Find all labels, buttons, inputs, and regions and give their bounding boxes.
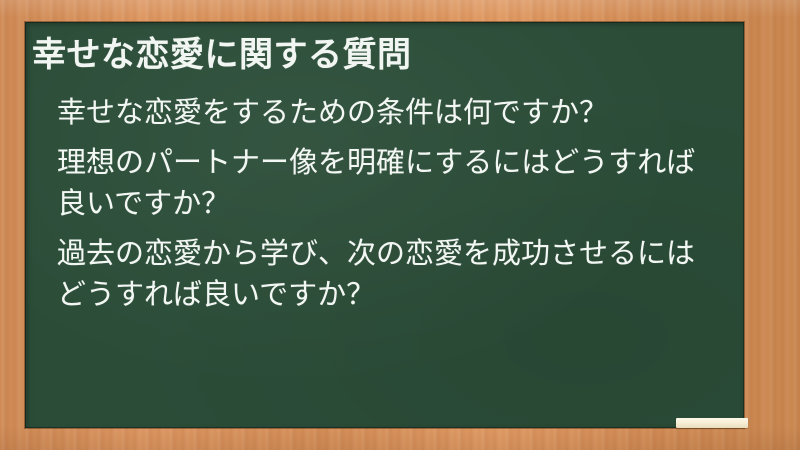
chalk-stick-icon bbox=[676, 418, 748, 428]
page-title: 幸せな恋愛に関する質問 bbox=[32, 32, 730, 78]
list-item: 理想のパートナー像を明確にするにはどうすれば良いですか？ bbox=[57, 142, 712, 224]
question-list: 幸せな恋愛をするための条件は何ですか？ 理想のパートナー像を明確にするにはどうす… bbox=[32, 92, 730, 315]
chalkboard: 幸せな恋愛に関する質問 幸せな恋愛をするための条件は何ですか？ 理想のパートナー… bbox=[25, 22, 744, 428]
list-item: 幸せな恋愛をするための条件は何ですか？ bbox=[57, 92, 712, 133]
list-item: 過去の恋愛から学び、次の恋愛を成功させるにはどうすれば良いですか？ bbox=[57, 233, 712, 315]
slide-screen: 幸せな恋愛に関する質問 幸せな恋愛をするための条件は何ですか？ 理想のパートナー… bbox=[0, 0, 800, 450]
chalkboard-content: 幸せな恋愛に関する質問 幸せな恋愛をするための条件は何ですか？ 理想のパートナー… bbox=[25, 22, 744, 428]
